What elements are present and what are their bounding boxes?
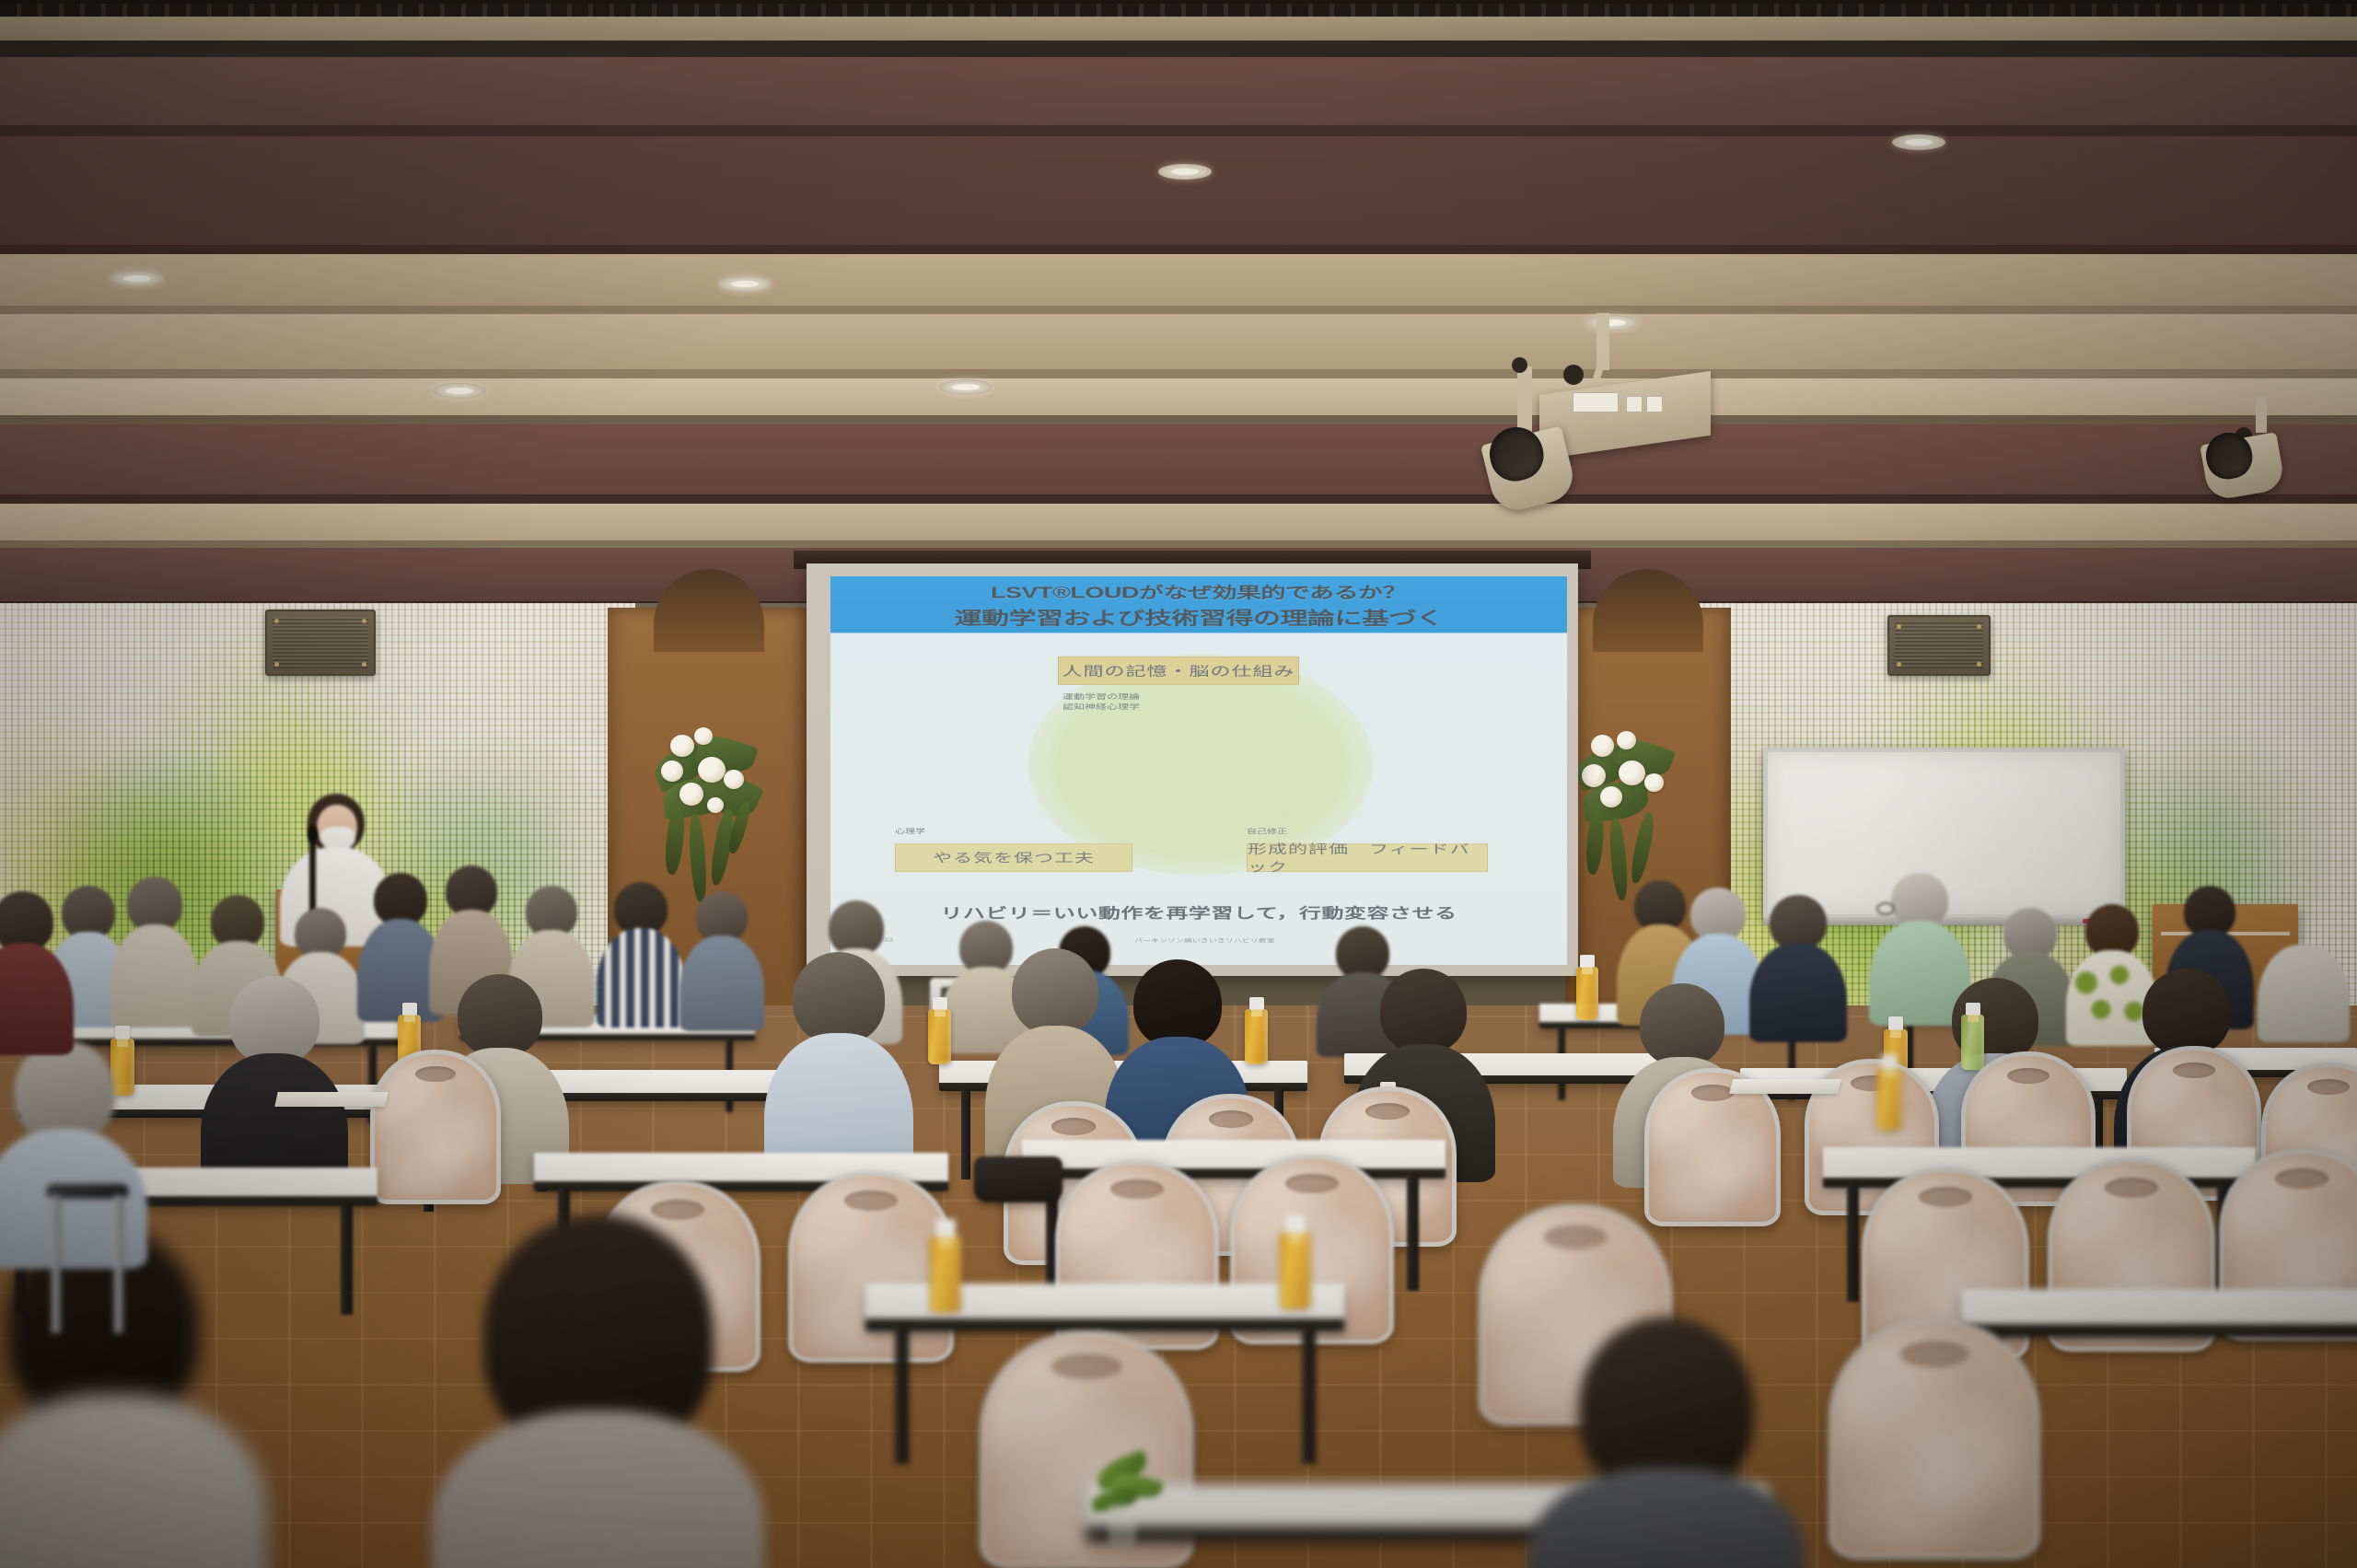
chair (788, 1171, 954, 1363)
chair (1829, 1318, 2040, 1560)
slide-center-sub-line-2: 認知神経心理学 (1062, 702, 1140, 712)
attendee-foreground (1528, 1317, 1805, 1568)
ceiling-downlight-icon (939, 379, 993, 395)
ceiling-band (0, 17, 2357, 41)
attendee (764, 952, 913, 1169)
table-leg (1847, 1184, 1859, 1302)
table-leg (1407, 1175, 1419, 1291)
attendee (597, 882, 685, 1024)
projected-slide: LSVT®LOUDがなぜ効果的であるか？ 運動学習および技術習得の理論に基づく … (830, 576, 1567, 965)
glasses-icon (1876, 902, 1895, 915)
attendee (679, 891, 764, 1029)
attendee (201, 976, 348, 1179)
ceiling-band (0, 314, 2357, 369)
attendee (110, 877, 199, 1024)
microphone-stand (309, 830, 316, 919)
table-leg (1302, 1326, 1316, 1464)
ceiling-downlight-icon (1158, 164, 1212, 180)
slide-left-label: 心理学 (895, 826, 925, 835)
ceiling-band (0, 125, 2357, 136)
ceiling-downlight-icon (1892, 134, 1945, 150)
wall-speaker (1887, 615, 1991, 676)
ceiling-band (0, 494, 2357, 504)
tea-bottle (1245, 1009, 1268, 1064)
chair (370, 1050, 501, 1204)
ceiling-band (0, 504, 2357, 540)
attendee (2258, 900, 2350, 1040)
slide-right-box: 形成的評価 フィードバック (1247, 843, 1488, 872)
ceiling-band (0, 369, 2357, 378)
ceiling-band (0, 245, 2357, 254)
attendee (1749, 895, 1847, 1039)
slide-right-label: 自己修正 (1247, 826, 1287, 835)
ceiling-band (0, 136, 2357, 245)
ceiling-band (0, 540, 2357, 548)
ceiling-band (0, 41, 2357, 57)
tea-bottle (1576, 967, 1598, 1020)
wall-speaker (265, 610, 376, 676)
tea-bottle (930, 1236, 961, 1313)
ceiling-band (0, 378, 2357, 415)
slide-footer-event: パーキンソン病いきいきリハビリ教室 (1134, 936, 1275, 944)
table-leg (961, 1089, 970, 1179)
handout-paper (1729, 1079, 1841, 1094)
ceiling-band (0, 415, 2357, 424)
plant-decoration (1075, 1446, 1177, 1547)
ceiling-band (0, 306, 2357, 314)
attendee-foreground (433, 1214, 764, 1568)
slide-title-line-1: LSVT®LOUDがなぜ効果的であるか？ (991, 580, 1407, 603)
slide-title-line-2: 運動学習および技術習得の理論に基づく (955, 603, 1444, 629)
slide-center-box: 人間の記憶・脳の仕組み (1058, 656, 1299, 685)
walking-aid (37, 1184, 147, 1350)
slide-left-box: やる気を保つ工夫 (895, 843, 1132, 872)
ceiling-spotlight-rig (2182, 396, 2357, 552)
ceiling-band (0, 254, 2357, 306)
handbag (974, 1156, 1062, 1202)
handout-paper (274, 1092, 388, 1107)
tea-bottle (1280, 1232, 1311, 1309)
slide-center-sub-line-1: 運動学習の理論 (1062, 691, 1140, 702)
table-leg (341, 1202, 353, 1315)
lecture-hall-photo: LSVT®LOUDがなぜ効果的であるか？ 運動学習および技術習得の理論に基づく … (0, 0, 2357, 1568)
ceiling-spotlight-rig (1455, 313, 1805, 543)
slide-center-subtext: 運動学習の理論 認知神経心理学 (1062, 691, 1140, 712)
ceiling-downlight-icon (110, 271, 164, 286)
tea-bottle (1876, 1068, 1902, 1131)
slide-title-banner: LSVT®LOUDがなぜ効果的であるか？ 運動学習および技術習得の理論に基づく (830, 576, 1567, 633)
ceiling-downlight-icon (718, 276, 772, 292)
tea-bottle (928, 1009, 951, 1064)
ceiling-band (0, 57, 2357, 125)
ceiling-downlight-icon (433, 383, 486, 399)
table-leg (895, 1326, 909, 1464)
ceiling-band (0, 424, 2357, 494)
microphone-icon (308, 825, 318, 843)
attendee (0, 891, 74, 1048)
slide-bottom-line: リハビリ＝いい動作を再学習して，行動変容させる (830, 901, 1567, 922)
